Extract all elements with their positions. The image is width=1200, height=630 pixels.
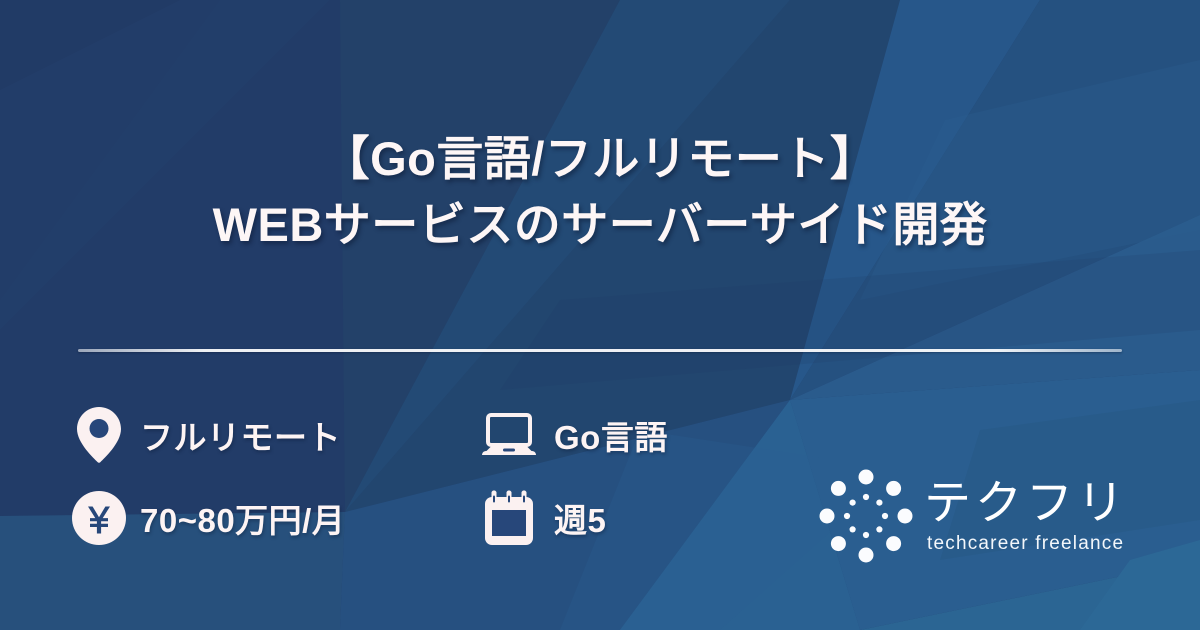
location-pin-icon bbox=[70, 405, 128, 465]
dot-cluster-icon bbox=[818, 468, 914, 564]
laptop-icon bbox=[480, 405, 538, 465]
calendar-icon bbox=[480, 488, 538, 548]
title-line-1: 【Go言語/フルリモート】 bbox=[0, 128, 1200, 190]
meta-row: フルリモート Go言語 bbox=[70, 393, 830, 476]
meta-label-days: 週5 bbox=[554, 494, 606, 542]
meta-label-location: フルリモート bbox=[140, 411, 341, 459]
title-line-2: WEBサービスのサーバーサイド開発 bbox=[0, 190, 1200, 260]
page-title: 【Go言語/フルリモート】 WEBサービスのサーバーサイド開発 bbox=[0, 128, 1200, 260]
yen-circle-icon bbox=[70, 488, 128, 548]
meta-item-language: Go言語 bbox=[480, 405, 810, 465]
meta-item-rate: 70~80万円/月 bbox=[70, 488, 480, 548]
meta-label-rate: 70~80万円/月 bbox=[140, 494, 345, 542]
meta-row: 70~80万円/月 週5 bbox=[70, 476, 830, 559]
logo-name-jp: テクフリ bbox=[924, 477, 1128, 529]
job-meta-list: フルリモート Go言語 bbox=[70, 393, 830, 559]
brand-logo: テクフリ techcareer freelance bbox=[818, 468, 1128, 564]
divider bbox=[78, 349, 1122, 352]
meta-item-location: フルリモート bbox=[70, 405, 480, 465]
job-posting-card: 【Go言語/フルリモート】 WEBサービスのサーバーサイド開発 フルリモート bbox=[0, 0, 1200, 630]
meta-item-days: 週5 bbox=[480, 488, 810, 548]
meta-label-language: Go言語 bbox=[554, 411, 668, 459]
logo-name-en: techcareer freelance bbox=[927, 532, 1124, 556]
